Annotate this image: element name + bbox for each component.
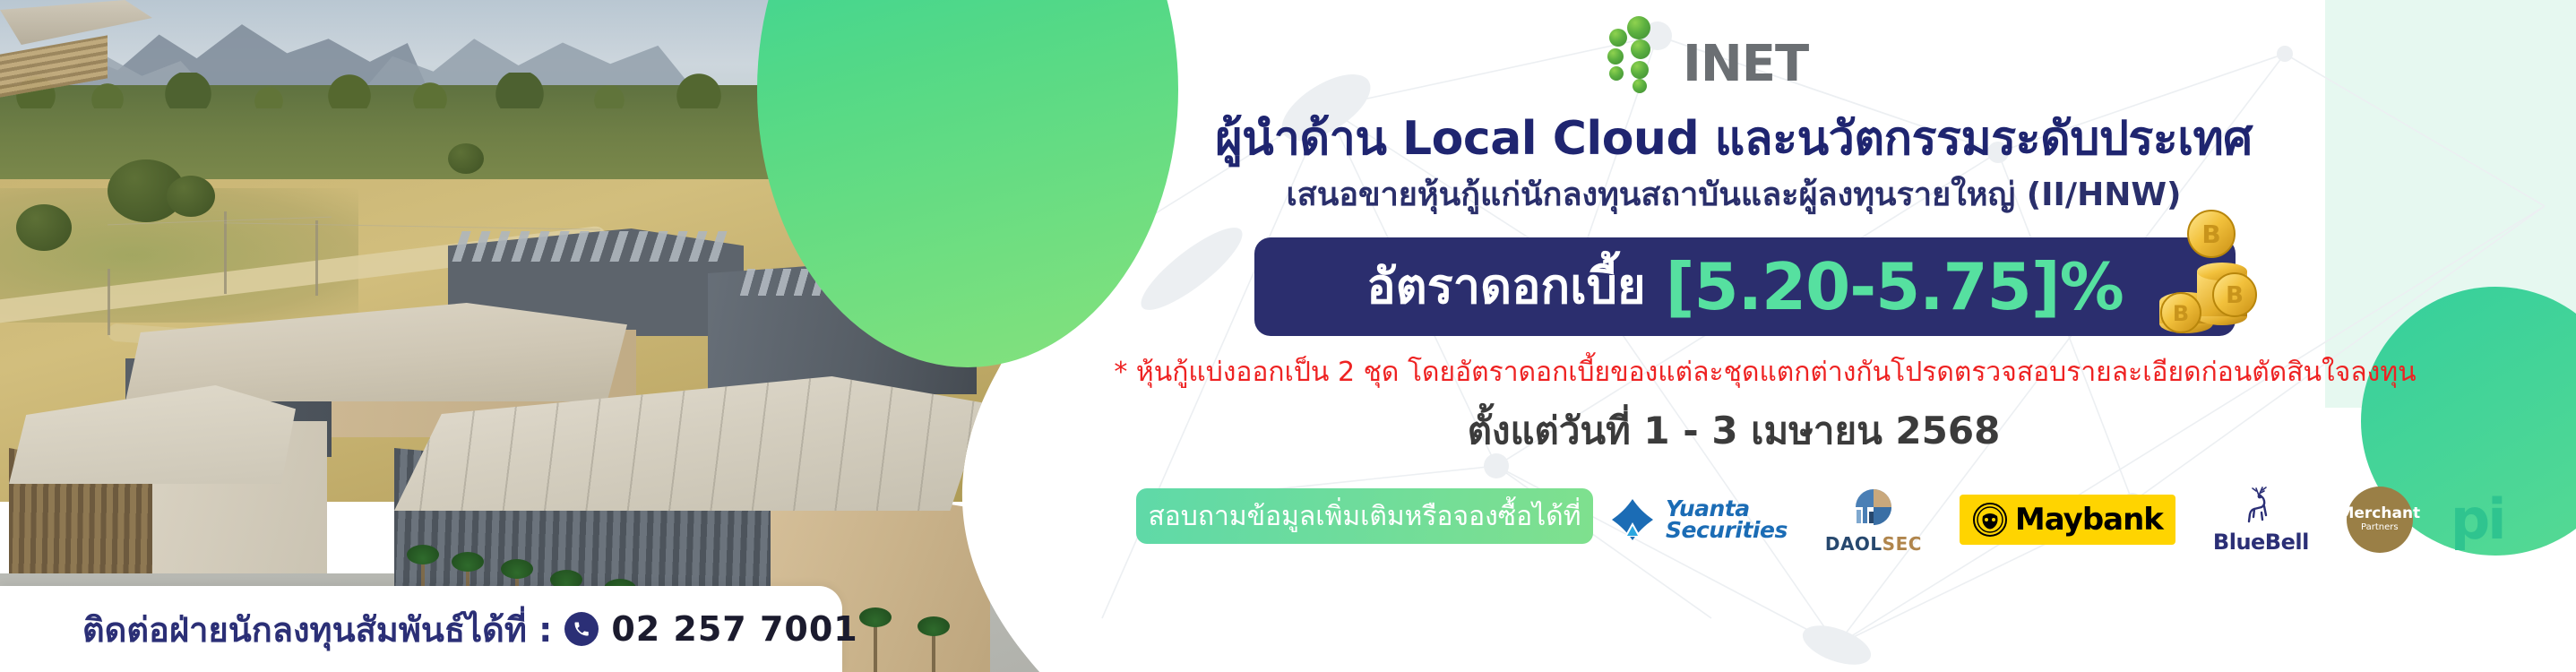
pi-text: pi (2451, 500, 2504, 538)
maybank-text: Maybank (2015, 502, 2163, 538)
partner-logos: Yuanta Securities DAOLSEC (1608, 475, 2558, 564)
svg-text:B: B (2173, 301, 2189, 326)
interest-rate-block: อัตราดอกเบี้ย [5.20-5.75]% (1254, 237, 2240, 336)
daol-text: DAOLSEC (1825, 533, 1922, 555)
merchant-line2: Partners (2361, 521, 2399, 533)
daol-line2: SEC (1882, 533, 1922, 555)
bluebell-text: BlueBell (2213, 530, 2309, 555)
content-panel: INET ผู้นำด้าน Local Cloud และนวัตกรรมระ… (1030, 0, 2576, 672)
date-range: ตั้งแต่วันที่ 1 - 3 เมษายน 2568 (1030, 401, 2437, 461)
contact-phone[interactable]: 02 257 7001 (611, 609, 857, 649)
photo-tree (167, 176, 215, 217)
partner-logo-daol[interactable]: DAOLSEC (1825, 485, 1922, 555)
partner-logo-yuanta[interactable]: Yuanta Securities (1608, 495, 1788, 544)
headline: ผู้นำด้าน Local Cloud และนวัตกรรมระดับปร… (1030, 100, 2437, 175)
bluebell-deer-icon (2239, 485, 2282, 528)
partner-logo-merchant[interactable]: Merchant Partners (2347, 487, 2413, 553)
yuanta-line2: Securities (1666, 520, 1788, 541)
interest-rate-box: อัตราดอกเบี้ย [5.20-5.75]% (1254, 237, 2236, 336)
phone-icon (564, 612, 599, 646)
gold-coins-icon: B B B (2134, 209, 2269, 352)
cta-button[interactable]: สอบถามข้อมูลเพิ่มเติมหรือจองซื้อได้ที่ (1136, 488, 1593, 544)
svg-text:B: B (2201, 220, 2220, 249)
contact-bar: ติดต่อฝ่ายนักลงทุนสัมพันธ์ได้ที่ : 02 25… (0, 586, 842, 672)
partner-logo-pi[interactable]: pi (2451, 500, 2504, 538)
daol-line1: DAOL (1825, 533, 1882, 555)
rate-value: [5.20-5.75]% (1666, 254, 2124, 319)
rate-label: อัตราดอกเบี้ย (1366, 263, 1645, 311)
inet-logo: INET (1604, 14, 1926, 88)
maybank-tiger-icon (1972, 502, 2008, 538)
photo-tree (448, 143, 484, 174)
disclaimer-note: * หุ้นกู้แบ่งออกเป็น 2 ชุด โดยอัตราดอกเบ… (1030, 351, 2500, 393)
partner-logo-maybank[interactable]: Maybank (1960, 495, 2175, 545)
contact-label: ติดต่อฝ่ายนักลงทุนสัมพันธ์ได้ที่ : (82, 602, 552, 657)
merchant-line1: Merchant (2339, 506, 2420, 521)
photo-roof-equipment (452, 231, 730, 262)
partner-logo-bluebell[interactable]: BlueBell (2213, 485, 2309, 555)
yuanta-star-icon (1608, 495, 1657, 544)
inet-wordmark: INET (1683, 39, 1808, 90)
contact-label-group: ติดต่อฝ่ายนักลงทุนสัมพันธ์ได้ที่ : 02 25… (82, 602, 858, 657)
inet-bond-banner: INET ผู้นำด้าน Local Cloud และนวัตกรรมระ… (0, 0, 2576, 672)
photo-tree (16, 204, 72, 251)
green-dots-icon (1604, 14, 1681, 88)
daol-pie-icon (1848, 485, 1900, 530)
svg-text:B: B (2226, 282, 2244, 309)
